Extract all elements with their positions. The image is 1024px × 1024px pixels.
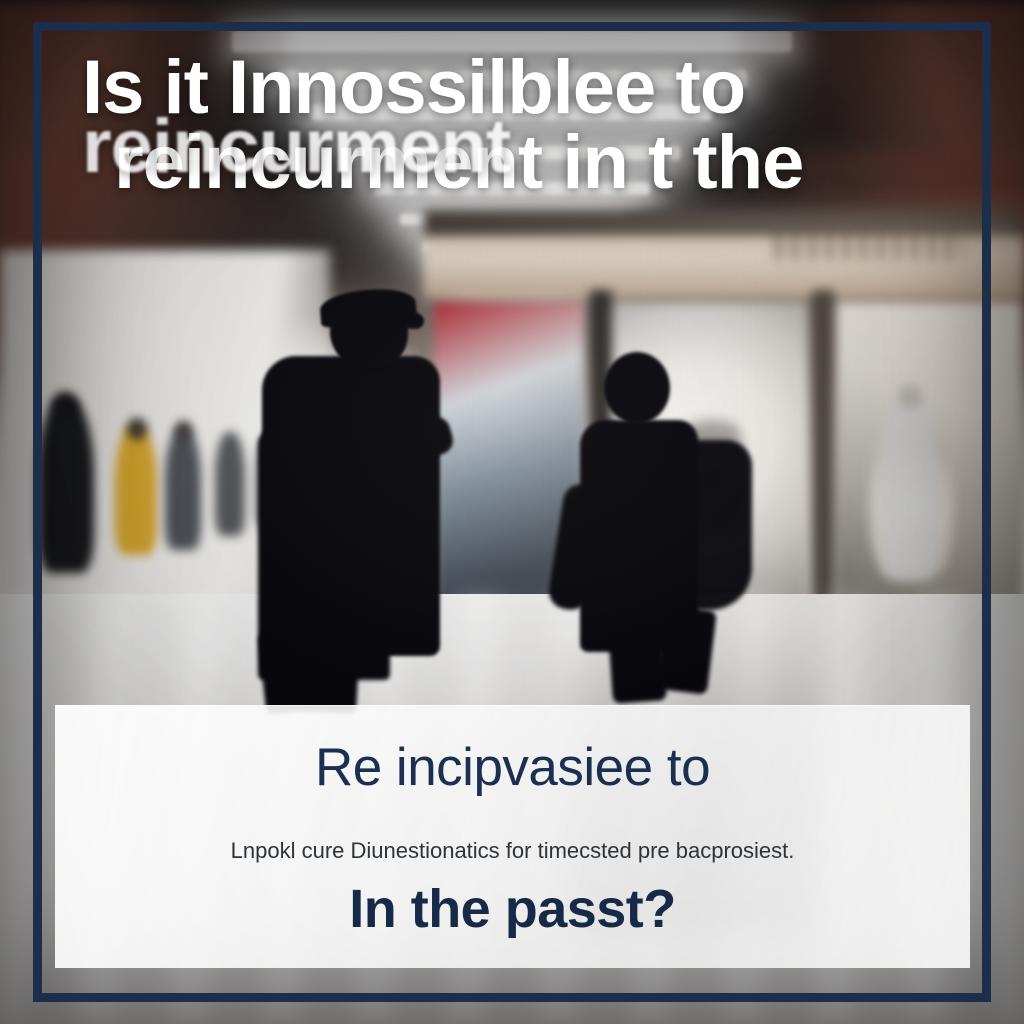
- caption-question: In the passt?: [55, 878, 970, 940]
- caption-subtitle: Lnpokl cure Diunestionatics for timecste…: [55, 838, 970, 864]
- poster-image: Is it Innossilblee to reincurment reincu…: [0, 0, 1024, 1024]
- caption-panel: Re incipvasiee to Lnpokl cure Diunestion…: [55, 705, 970, 968]
- caption-heading: Re incipvasiee to: [55, 737, 970, 798]
- headline-line-2: reincurment reincurment in t the: [114, 127, 958, 198]
- headline-block: Is it Innossilblee to reincurment reincu…: [78, 52, 958, 199]
- headline-line-2-ghost-overlap: reincurment: [82, 111, 510, 182]
